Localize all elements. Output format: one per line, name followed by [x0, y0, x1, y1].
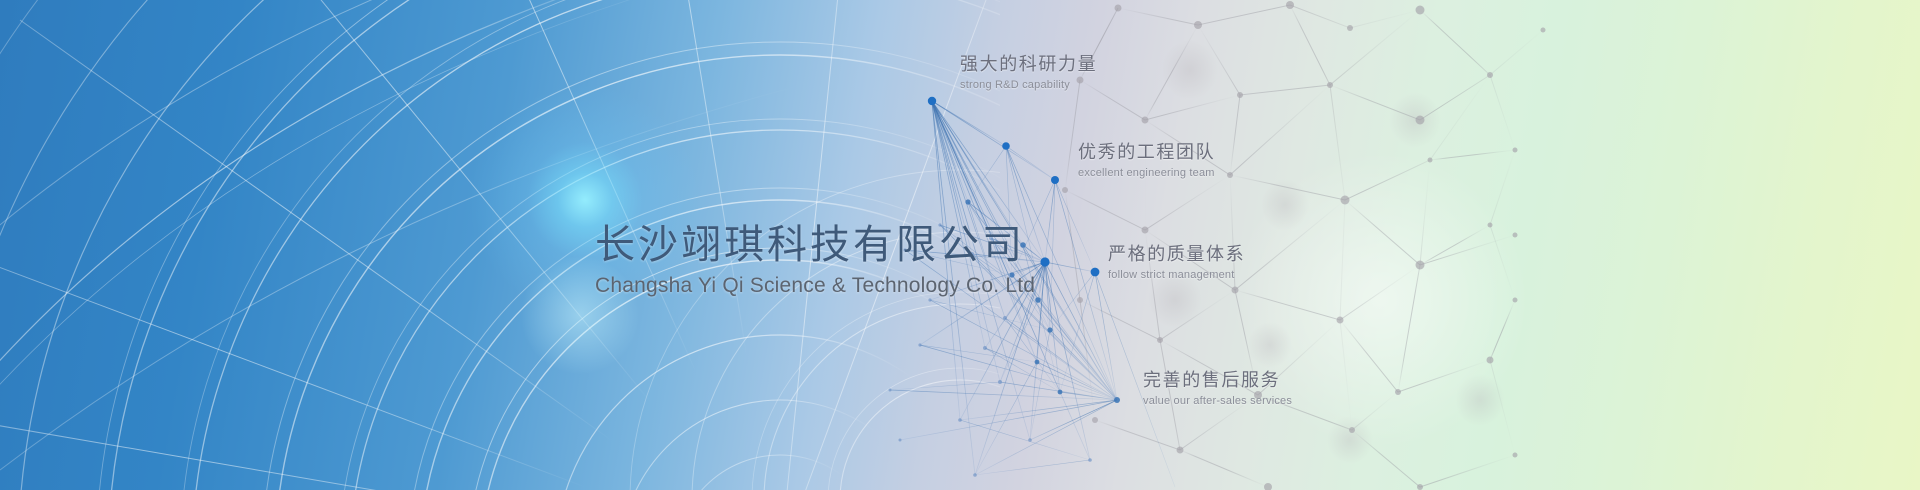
feature-label-cn: 强大的科研力量 — [960, 50, 1097, 76]
feature-label-cn: 严格的质量体系 — [1108, 240, 1245, 266]
company-title-block: 长沙翊琪科技有限公司 Changsha Yi Qi Science & Tech… — [595, 222, 1035, 298]
feature-label-rd-capability: 强大的科研力量 strong R&D capability — [960, 50, 1097, 91]
feature-label-cn: 优秀的工程团队 — [1078, 138, 1215, 164]
company-name-english: Changsha Yi Qi Science & Technology Co. … — [595, 274, 1035, 298]
feature-label-cn: 完善的售后服务 — [1143, 366, 1292, 392]
feature-label-en: value our after-sales services — [1143, 395, 1292, 407]
feature-label-engineering-team: 优秀的工程团队 excellent engineering team — [1078, 138, 1215, 179]
feature-label-en: strong R&D capability — [960, 79, 1097, 91]
feature-label-quality-system: 严格的质量体系 follow strict management — [1108, 240, 1245, 281]
company-name-chinese: 长沙翊琪科技有限公司 — [595, 222, 1035, 268]
feature-label-after-sales-service: 完善的售后服务 value our after-sales services — [1143, 366, 1292, 407]
feature-label-en: excellent engineering team — [1078, 167, 1215, 179]
company-banner: 长沙翊琪科技有限公司 Changsha Yi Qi Science & Tech… — [0, 0, 1920, 490]
feature-label-en: follow strict management — [1108, 269, 1245, 281]
